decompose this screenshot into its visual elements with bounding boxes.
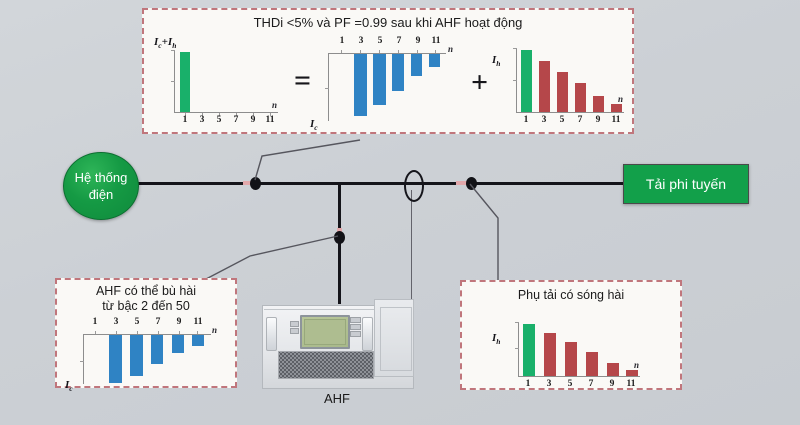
ahf-lcd-surface (304, 319, 346, 345)
ahf-left-handle (266, 317, 277, 351)
y-axis (518, 322, 519, 376)
x-axis (518, 376, 640, 377)
bar (626, 370, 638, 376)
bar (109, 335, 122, 383)
bar (172, 335, 184, 353)
ahf-keypad-button[interactable] (290, 328, 299, 334)
ahf-right-handle (362, 317, 373, 351)
ahf-ventilation-grille (278, 351, 374, 379)
chart-ahf-range-xlabel: n (212, 325, 217, 335)
ahf-lcd-screen[interactable] (300, 315, 350, 349)
diagram-canvas: THDi <5% và PF =0.99 sau khi AHF hoạt độ… (0, 0, 800, 425)
bar (192, 335, 204, 346)
source-node: Hệ thống điện (63, 152, 139, 220)
ahf-device: AHF (262, 305, 412, 387)
bar (586, 352, 598, 376)
y-axis (83, 334, 84, 384)
bar (523, 324, 535, 376)
load-node: Tải phi tuyến (623, 164, 749, 204)
bar (544, 333, 556, 376)
bar (151, 335, 163, 364)
chart-ahf-range-ylabel: Ic (65, 379, 73, 393)
right-callout-box: Phụ tải có sóng hài Ih n 1 3 5 7 9 11 (460, 280, 682, 390)
ahf-keypad-button[interactable] (350, 324, 361, 330)
ahf-seam (264, 309, 374, 310)
chart-ahf-range: 1 3 5 7 9 11 n Ic (75, 317, 225, 387)
bar (130, 335, 143, 376)
chart-load-current-ylabel: Ih (492, 332, 500, 346)
ahf-keypad-button[interactable] (290, 321, 299, 327)
right-callout-title: Phụ tải có sóng hài (462, 282, 680, 303)
bar (607, 363, 619, 376)
ahf-keypad-button[interactable] (350, 331, 361, 337)
left-callout-title: AHF có thể bù hài từ bậc 2 đến 50 (57, 280, 235, 314)
ahf-keypad-button[interactable] (350, 317, 361, 323)
ahf-device-label: AHF (262, 391, 412, 406)
bar (565, 342, 577, 376)
ahf-rear-extension (380, 307, 412, 371)
left-callout-box: AHF có thể bù hài từ bậc 2 đến 50 1 3 5 … (55, 278, 237, 388)
chart-load-current-xlabel: n (634, 360, 639, 370)
chart-load-current: Ih n 1 3 5 7 9 11 (492, 310, 662, 390)
